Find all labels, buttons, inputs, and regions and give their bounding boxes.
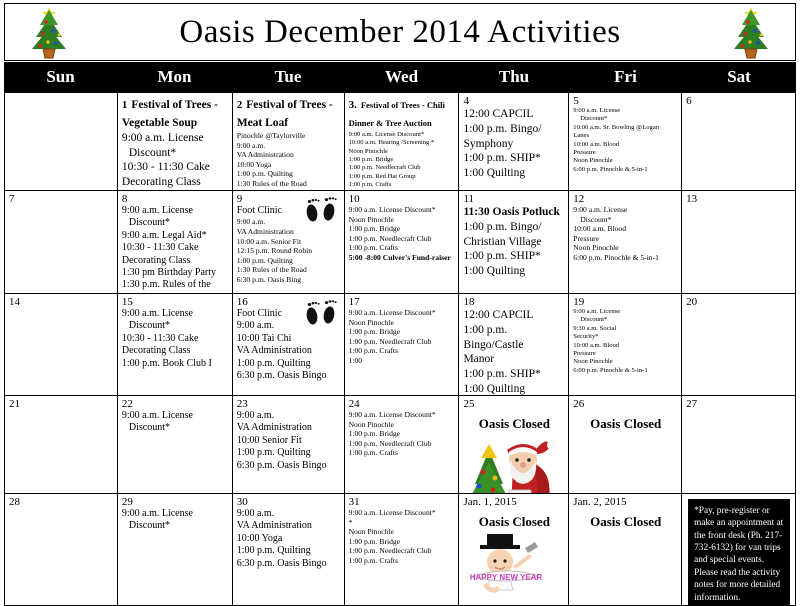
calendar-day-cell[interactable]: 229:00 a.m. LicenseDiscount* (118, 396, 233, 493)
weekday-header-wed: Wed (344, 62, 459, 92)
day-number: 5 (573, 95, 678, 107)
calendar-day-cell[interactable]: 20 (682, 294, 796, 395)
day-event-line: 6:30 p.m. Oasis Bingo (237, 460, 341, 472)
day-event-line: 1:00 p.m. Crafts (349, 243, 456, 253)
weekday-header-fri: Fri (569, 62, 682, 92)
calendar-day-cell[interactable]: 239:00 a.m.VA Administration10:00 Senior… (233, 396, 345, 493)
day-special-event-heading: Festival of Trees - Chili Dinner & Tree … (349, 100, 445, 128)
day-event-line: Noon Pinochle (349, 148, 456, 156)
day-event-line: 6:30 p.m. Oasis Bing (237, 275, 341, 285)
day-event-line: VA Administration (237, 227, 341, 237)
day-event-line: 9:00 a.m. License Discount* (349, 131, 456, 139)
day-number: 19 (573, 296, 678, 308)
day-event-line: 10:00 a.m. Blood (573, 224, 678, 234)
day-event-line: 1:00 p.m. Crafts (349, 448, 456, 458)
day-number: 21 (9, 398, 114, 410)
oasis-closed-label: Oasis Closed (463, 514, 565, 530)
calendar-day-cell[interactable]: 27 (682, 396, 796, 493)
day-event-line: Pressure (573, 350, 678, 358)
new-year-baby-image: HAPPY NEW YEAR (463, 532, 565, 601)
day-number: 6 (686, 95, 792, 107)
day-event-line: 9:00 a.m. License (573, 308, 678, 316)
day-event-line: 1:00 p.m. Bridge (349, 224, 456, 234)
weekday-header-thu: Thu (459, 62, 569, 92)
day-event-line: 6:30 p.m. Oasis Bingo (237, 188, 341, 190)
day-number: 22 (122, 398, 229, 410)
day-event-line: 12:00 CAPCIL (463, 308, 565, 323)
day-event-line: Noon Pinochle (573, 243, 678, 253)
day-event-line: Decorating Class (122, 345, 229, 357)
day-event-line: 1:00 p.m. Quilting (237, 358, 341, 370)
day-number-label: 3. (349, 99, 357, 111)
calendar-week-row: 28299:00 a.m. LicenseDiscount*309:00 a.m… (5, 494, 796, 606)
day-event-line: 10:00 a.m. Blood (573, 342, 678, 350)
day-event-line: 9:00 a.m. Legal Aid* (122, 230, 229, 242)
day-number: 13 (686, 193, 792, 205)
day-event-line: 9:00 a.m. License Discount* (349, 410, 456, 420)
day-event-line: Noon Pinochle (349, 318, 456, 328)
christmas-tree-icon (729, 5, 773, 60)
day-event-line: 9:30 a.m. Social (573, 325, 678, 333)
day-event-line: 6:30 p.m. Oasis Bingo (237, 558, 341, 570)
day-event-line: 9:00 a.m. (237, 508, 341, 520)
day-event-line: 12:00 CAPCIL (463, 107, 565, 122)
day-event-line: 9:00 a.m. License Discount* (349, 205, 456, 215)
day-event-line: Decorating Class (122, 255, 229, 267)
day-number: 14 (9, 296, 114, 308)
day-event-line: 9:00 a.m. (237, 410, 341, 422)
calendar-day-cell[interactable]: 109:00 a.m. License Discount*Noon Pinoch… (345, 191, 460, 293)
calendar-day-cell[interactable]: 14 (5, 294, 118, 395)
day-event-line: 1:00 p.m. Crafts (349, 556, 456, 566)
day-event-line: 1:00 p.m. Bingo/ (463, 220, 565, 235)
calendar-day-cell[interactable]: 129:00 a.m. LicenseDiscount*10:00 a.m. B… (569, 191, 682, 293)
day-event-line: 1:00 p.m. Needlecraft Club (349, 164, 456, 172)
day-event-line: 1:00 p.m. SHIP* (463, 367, 565, 382)
day-event-line: 9:00 a.m. License (122, 308, 229, 320)
calendar-day-cell[interactable]: 1 Festival of Trees - Vegetable Soup9:00… (118, 93, 233, 190)
calendar-week-row: 1 Festival of Trees - Vegetable Soup9:00… (5, 93, 796, 191)
day-event-line: 1:00 p.m. Quilting (237, 256, 341, 266)
calendar-day-cell[interactable]: Jan. 1, 2015Oasis Closed HAPPY NEW YEAR (459, 494, 569, 605)
day-number: 27 (686, 398, 792, 410)
day-special-event-heading: Festival of Trees - Vegetable Soup (122, 99, 218, 129)
day-event-line: 1:30 Rules of the Road (237, 265, 341, 275)
day-event-line: 1:00 p.m. Bingo/ (463, 122, 565, 137)
day-event-line: 10:00 a.m. Senior Fit (237, 237, 341, 247)
day-event-line: 9:00 a.m. License (122, 205, 229, 217)
footprints-icon (300, 193, 340, 227)
calendar-day-cell[interactable]: 299:00 a.m. LicenseDiscount* (118, 494, 233, 605)
calendar-day-cell[interactable]: 1111:30 Oasis Potluck1:00 p.m. Bingo/Chr… (459, 191, 569, 293)
oasis-closed-label: Oasis Closed (573, 514, 678, 530)
day-number: 7 (9, 193, 114, 205)
calendar-day-cell[interactable]: Jan. 2, 2015Oasis Closed (569, 494, 682, 605)
day-event-line: 10:00 Yoga (237, 160, 341, 170)
calendar-day-cell[interactable]: 159:00 a.m. LicenseDiscount*10:30 - 11:3… (118, 294, 233, 395)
day-event-line: 1:00 p.m. Bridge (349, 156, 456, 164)
day-event-line: Discount* (122, 520, 229, 532)
day-number-label: 2 (237, 99, 243, 111)
day-event-line: 6:30 p.m. Oasis Bingo (237, 370, 341, 382)
svg-text:HAPPY NEW YEAR: HAPPY NEW YEAR (470, 573, 543, 582)
day-event-line: Security* (573, 333, 678, 341)
day-event-line: VA Administration (237, 422, 341, 434)
day-event-line: Lanes (573, 132, 678, 140)
day-event-line: * (349, 518, 456, 528)
day-event-line: 1:00 p.m. SHIP* (463, 249, 565, 264)
day-event-line: 1:00 p.m. Crafts (349, 181, 456, 189)
day-event-line: 9:00 a.m. License (122, 410, 229, 422)
calendar-day-cell[interactable]: 1812:00 CAPCIL1:00 p.m. Bingo/CastleMano… (459, 294, 569, 395)
day-number: 28 (9, 496, 114, 508)
day-number: 10 (349, 193, 456, 205)
day-event-line: 1:30 p.m. Rules of the Road (122, 279, 229, 293)
calendar-page: Oasis December 2014 Activities SunMonTue… (0, 0, 800, 606)
day-event-line: 1:00 p.m. Needlecraft Club (349, 337, 456, 347)
day-event-line: 6:00 p.m. Pinochle & 5-in-1 (573, 166, 678, 174)
day-event-line: 1:30 pm Birthday Party (122, 267, 229, 279)
day-event-line: 9:00 a.m. License (573, 107, 678, 115)
day-event-line: Pressure (573, 234, 678, 244)
calendar-day-cell[interactable]: 179:00 a.m. License Discount*Noon Pinoch… (345, 294, 460, 395)
day-event-line: 12:15 p.m. Round Robin (237, 246, 341, 256)
day-event-line: 1:00 p.m. Quilting (237, 169, 341, 179)
day-special-event-heading: Festival of Trees - Meat Loaf (237, 99, 333, 129)
calendar-day-cell[interactable]: 16 Foot Clinic9:00 a.m.10:00 Tai ChiVA A… (233, 294, 345, 395)
day-event-line: Noon Pinochle (349, 527, 456, 537)
day-event-line: 10:00 a.m. Sr. Bowling @Logan (573, 124, 678, 132)
weekday-header-sun: Sun (4, 62, 117, 92)
day-number: 12 (573, 193, 678, 205)
calendar-day-cell[interactable]: 2 Festival of Trees - Meat LoafPinochle … (233, 93, 345, 190)
day-number: 11 (463, 193, 565, 205)
calendar-day-cell[interactable]: 89:00 a.m. LicenseDiscount*9:00 a.m. Leg… (118, 191, 233, 293)
day-event-line: 6:00 p.m. Pinochle & 5-in-1 (573, 253, 678, 263)
day-event-line: 9:00 a.m. License Discount* (349, 508, 456, 518)
santa-claus-image (463, 434, 565, 493)
day-event-line: 10:00 a.m. Blood (573, 141, 678, 149)
calendar-week-row: 14159:00 a.m. LicenseDiscount*10:30 - 11… (5, 294, 796, 396)
day-event-line: 10:00 Tai Chi (237, 333, 341, 345)
day-number: 18 (463, 296, 565, 308)
day-event-highlight: 5:00 -8:00 Culver's Fund-raiser (349, 253, 456, 263)
day-event-line: 10:00 Senior Fit (237, 435, 341, 447)
day-event-line: VA Administration (237, 520, 341, 532)
calendar-week-row: 789:00 a.m. LicenseDiscount*9:00 a.m. Le… (5, 191, 796, 294)
day-number: 25 (463, 398, 565, 410)
calendar-day-cell[interactable]: 9 Foot Clinic9:00 a.m.VA Administration1… (233, 191, 345, 293)
day-event-line: 1:00 p.m. Needlecraft Club (349, 234, 456, 244)
day-event-line: 1:30 Rules of the Road (237, 179, 341, 189)
day-event-line: Symphony (463, 137, 565, 152)
day-number: 26 (573, 398, 678, 410)
day-event-line: Discount* (573, 316, 678, 324)
calendar-day-cell[interactable]: 25Oasis Closed (459, 396, 569, 493)
day-event-line: 6:00 p.m. Pinochle & 5-in-1 (573, 367, 678, 375)
day-event-line: 1:00 p.m. Book Club I (122, 358, 229, 370)
calendar-week-row: 21229:00 a.m. LicenseDiscount*239:00 a.m… (5, 396, 796, 494)
day-number: 4 (463, 95, 565, 107)
calendar-day-cell[interactable]: 412:00 CAPCIL1:00 p.m. Bingo/Symphony1:0… (459, 93, 569, 190)
day-event-line: VA Administration (237, 345, 341, 357)
calendar-day-cell[interactable]: 249:00 a.m. License Discount*Noon Pinoch… (345, 396, 460, 493)
calendar-banner: Oasis December 2014 Activities (4, 3, 796, 61)
day-event-line: 1:00 p.m. Quilting (237, 545, 341, 557)
footnote-note: *Pay, pre-register or make an appointmen… (688, 499, 790, 605)
day-event-line: 1:00 p.m. Bridge (349, 429, 456, 439)
day-number: 20 (686, 296, 792, 308)
weekday-header-mon: Mon (117, 62, 232, 92)
day-number: 24 (349, 398, 456, 410)
weekday-header-tue: Tue (232, 62, 344, 92)
footprints-icon (300, 296, 340, 330)
day-number: 31 (349, 496, 456, 508)
day-event-line: 10:30 - 11:30 Cake (122, 160, 229, 175)
day-event-line: 9:00 a.m. License (573, 205, 678, 215)
day-number: 8 (122, 193, 229, 205)
calendar-day-cell[interactable]: 3. Festival of Trees - Chili Dinner & Tr… (345, 93, 460, 190)
day-event-line: Discount* (122, 146, 229, 161)
day-number: 15 (122, 296, 229, 308)
day-event-line: 1:00 Quilting (463, 264, 565, 279)
day-number: 1 Festival of Trees - Vegetable Soup (122, 95, 229, 131)
day-event-line: 1:00 (349, 356, 456, 366)
calendar-day-cell[interactable]: 6 (682, 93, 796, 190)
day-event-line: 10:00 Yoga (237, 533, 341, 545)
day-event-line: Pressure (573, 149, 678, 157)
calendar-day-cell[interactable]: 28 (5, 494, 118, 605)
day-event-line: Discount* (122, 217, 229, 229)
day-event-line: Discount* (122, 422, 229, 434)
day-event-line: 9:00 a.m. License (122, 508, 229, 520)
day-number: 3. Festival of Trees - Chili Dinner & Tr… (349, 95, 456, 131)
day-event-line: 1:00 p.m. Bingo/Castle (463, 323, 565, 352)
day-event-line: Noon Pinochle (349, 215, 456, 225)
christmas-tree-icon (27, 5, 71, 60)
oasis-closed-label: Oasis Closed (463, 416, 565, 432)
day-event-line: Decorating Class (122, 175, 229, 190)
calendar-day-cell[interactable]: 199:00 a.m. LicenseDiscount*9:30 a.m. So… (569, 294, 682, 395)
day-event-line: Discount* (573, 215, 678, 225)
day-event-line: 1:00 p.m. SHIP* (463, 151, 565, 166)
day-number-label: 1 (122, 99, 128, 111)
day-event-line: Noon Pinochle (573, 157, 678, 165)
weekday-header-row: SunMonTueWedThuFriSat (4, 62, 796, 92)
calendar-day-cell[interactable]: 319:00 a.m. License Discount**Noon Pinoc… (345, 494, 460, 605)
day-event-line: 1:00 p.m. Needlecraft Club (349, 546, 456, 556)
day-event-line: 9:00 a.m. (237, 141, 341, 151)
day-event-line: 1:00 Quilting (463, 166, 565, 181)
calendar-day-cell[interactable]: 21 (5, 396, 118, 493)
calendar-day-cell[interactable]: 309:00 a.m.VA Administration10:00 Yoga1:… (233, 494, 345, 605)
day-event-line: Discount* (573, 115, 678, 123)
calendar-grid: 1 Festival of Trees - Vegetable Soup9:00… (4, 92, 796, 606)
day-event-line: 1:00 p.m. Bridge (349, 537, 456, 547)
day-event-line: Manor (463, 352, 565, 367)
footnote-cell[interactable]: *Pay, pre-register or make an appointmen… (682, 494, 796, 605)
day-event-line: Noon Pinochle (573, 358, 678, 366)
oasis-closed-label: Oasis Closed (573, 416, 678, 432)
day-number: 29 (122, 496, 229, 508)
day-event-line: Noon Pinochle (349, 420, 456, 430)
weekday-header-sat: Sat (682, 62, 796, 92)
calendar-day-cell[interactable]: 26Oasis Closed (569, 396, 682, 493)
day-number: Jan. 1, 2015 (463, 496, 565, 508)
day-event-line: 1:00 p.m. Quilting (237, 447, 341, 459)
day-event-line: 1:00 Quilting (463, 382, 565, 395)
day-event-line: Christian Village (463, 235, 565, 250)
day-number: 17 (349, 296, 456, 308)
day-event-line: VA Administration (237, 150, 341, 160)
day-number: 23 (237, 398, 341, 410)
day-event-line: 10:00 a.m. Hearing /Screening * (349, 139, 456, 147)
day-event-line: 1:00 p.m. Crafts (349, 346, 456, 356)
calendar-day-cell[interactable]: 13 (682, 191, 796, 293)
calendar-day-cell[interactable] (5, 93, 118, 190)
day-event-line: Pinochle @Taylorville (237, 131, 341, 141)
calendar-day-cell[interactable]: 59:00 a.m. LicenseDiscount*10:00 a.m. Sr… (569, 93, 682, 190)
day-event-line: 10:30 - 11:30 Cake (122, 242, 229, 254)
day-event-line: 9:00 a.m. License (122, 131, 229, 146)
day-number: 2 Festival of Trees - Meat Loaf (237, 95, 341, 131)
calendar-day-cell[interactable]: 7 (5, 191, 118, 293)
day-number: Jan. 2, 2015 (573, 496, 678, 508)
day-number: 30 (237, 496, 341, 508)
day-event-line: 9:00 a.m. License Discount* (349, 308, 456, 318)
day-event-line: 10:30 - 11:30 Cake (122, 333, 229, 345)
page-title: Oasis December 2014 Activities (179, 14, 620, 51)
day-event-line: 1:00 p.m. Bridge (349, 327, 456, 337)
day-event-line: 1:00 p.m. Red Hat Group (349, 173, 456, 181)
day-event-line: Discount* (122, 320, 229, 332)
day-event-line: 1:00 p.m. Needlecraft Club (349, 439, 456, 449)
day-event-highlight: 11:30 Oasis Potluck (463, 205, 565, 220)
